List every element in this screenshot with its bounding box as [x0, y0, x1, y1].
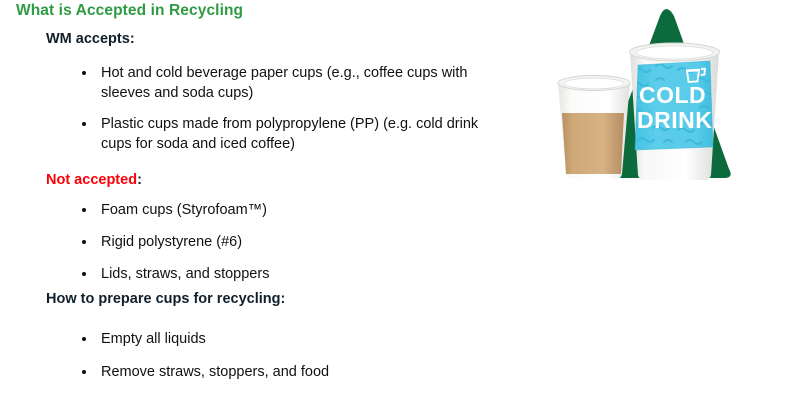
not-accepted-heading-label: Not accepted: [46, 172, 137, 188]
bullet-icon: [82, 337, 86, 341]
cold-drink-label: COLD DRINK: [628, 56, 720, 154]
not-accepted-heading-colon: :: [137, 172, 142, 188]
bullet-icon: [82, 208, 86, 212]
accepted-list: Hot and cold beverage paper cups (e.g., …: [81, 63, 501, 165]
list-item-label: Plastic cups made from polypropylene (PP…: [101, 114, 501, 154]
accepted-heading: WM accepts:: [46, 31, 135, 47]
recycling-info-panel: What is Accepted in Recycling WM accepts…: [0, 0, 797, 406]
cold-drink-line2: DRINK: [637, 107, 712, 133]
accepted-heading-colon: :: [130, 31, 135, 47]
list-item: Foam cups (Styrofoam™): [81, 200, 501, 220]
prepare-heading: How to prepare cups for recycling:: [46, 291, 285, 307]
list-item-label: Rigid polystyrene (#6): [101, 232, 501, 252]
list-item-label: Remove straws, stoppers, and food: [101, 362, 501, 382]
bullet-icon: [82, 122, 86, 126]
list-item: Hot and cold beverage paper cups (e.g., …: [81, 63, 501, 103]
cold-drink-line1: COLD: [639, 82, 706, 108]
page-title: What is Accepted in Recycling: [16, 2, 243, 20]
list-item-label: Lids, straws, and stoppers: [101, 264, 501, 284]
list-item-label: Empty all liquids: [101, 329, 501, 349]
list-item: Plastic cups made from polypropylene (PP…: [81, 114, 501, 154]
not-accepted-heading: Not accepted:: [46, 172, 142, 188]
bullet-icon: [82, 240, 86, 244]
list-item: Empty all liquids: [81, 329, 501, 349]
list-item: Rigid polystyrene (#6): [81, 232, 501, 252]
bullet-icon: [82, 370, 86, 374]
list-item: Lids, straws, and stoppers: [81, 264, 501, 284]
accepted-heading-label: WM accepts: [46, 31, 130, 47]
not-accepted-list: Foam cups (Styrofoam™) Rigid polystyrene…: [81, 200, 501, 296]
prepare-heading-colon: :: [280, 291, 285, 307]
list-item-label: Foam cups (Styrofoam™): [101, 200, 501, 220]
prepare-list: Empty all liquids Remove straws, stopper…: [81, 329, 501, 395]
list-item-label: Hot and cold beverage paper cups (e.g., …: [101, 63, 501, 103]
prepare-heading-label: How to prepare cups for recycling: [46, 291, 280, 307]
bullet-icon: [82, 71, 86, 75]
cups-illustration: COLD DRINK: [520, 0, 750, 200]
cold-drink-cup: COLD DRINK: [628, 43, 720, 180]
coffee-cup: [556, 76, 632, 181]
bullet-icon: [82, 272, 86, 276]
cup-sleeve: [556, 110, 632, 180]
list-item: Remove straws, stoppers, and food: [81, 362, 501, 382]
